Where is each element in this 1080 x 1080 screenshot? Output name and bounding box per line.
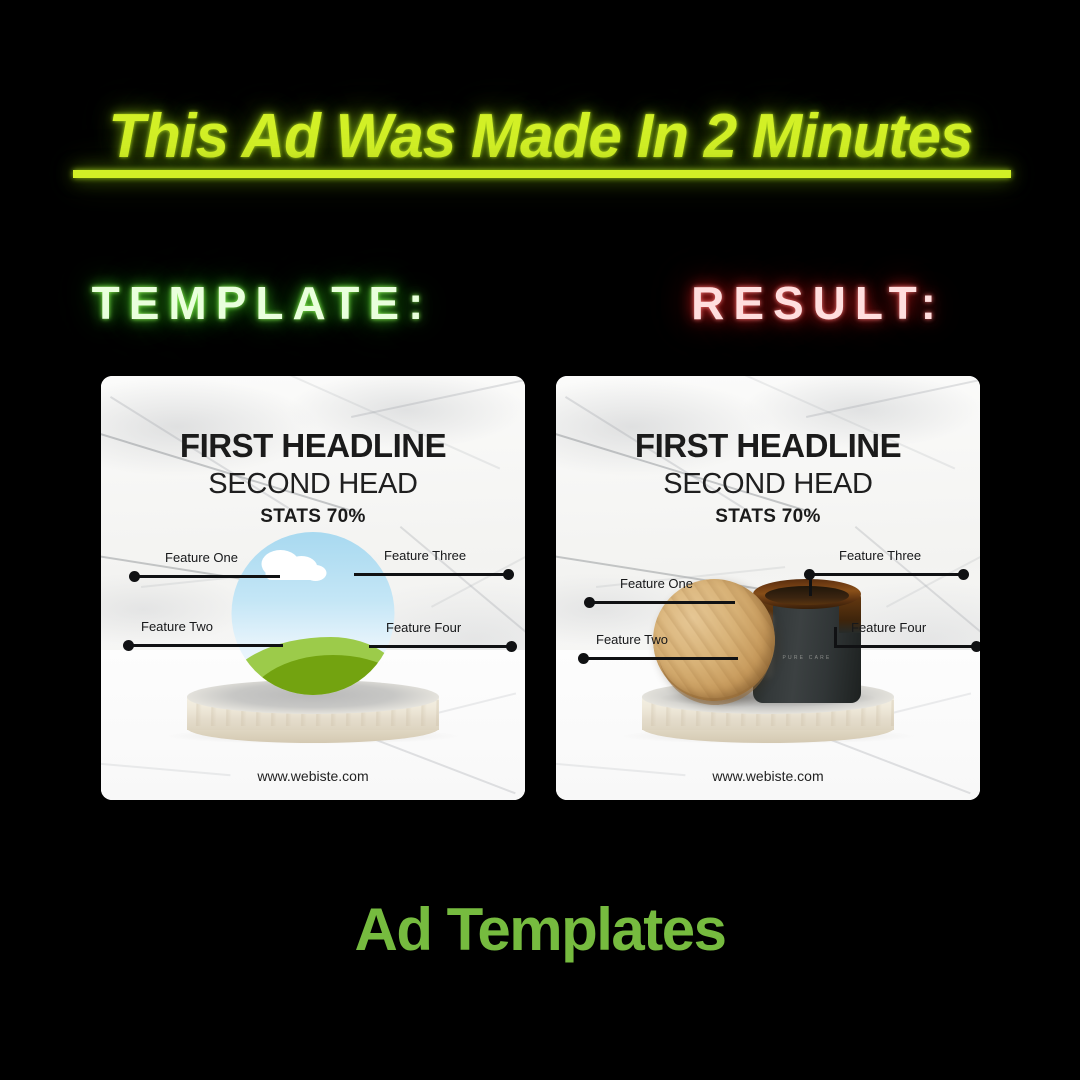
callout-line <box>128 644 283 647</box>
callout-stem <box>834 627 837 648</box>
feature-label: Feature One <box>620 576 693 591</box>
jar-brand-label: PURE CARE <box>767 655 847 661</box>
section-label-template: TEMPLATE: <box>0 276 524 330</box>
feature-label: Feature Three <box>839 548 921 563</box>
callout-dot <box>971 641 980 652</box>
callout-stem <box>809 574 812 596</box>
card-stats-text: STATS 70% <box>556 506 980 528</box>
marble-vein <box>351 376 525 418</box>
callout-line <box>134 575 280 578</box>
section-label-result: RESULT: <box>556 276 1080 330</box>
main-headline: This Ad Was Made In 2 Minutes <box>104 101 976 178</box>
callout-dot <box>503 569 514 580</box>
callout-line <box>589 601 735 604</box>
callout-dot <box>506 641 517 652</box>
callout-line <box>809 573 964 576</box>
template-ad-card[interactable]: FIRST HEADLINE SECOND HEAD STATS 70% Fea… <box>101 376 525 800</box>
card-website-url[interactable]: www.webiste.com <box>556 768 980 784</box>
result-ad-card[interactable]: FIRST HEADLINE SECOND HEAD STATS 70% PUR… <box>556 376 980 800</box>
feature-label: Feature Two <box>596 632 668 647</box>
callout-dot <box>958 569 969 580</box>
callout-line <box>834 645 977 648</box>
card-headline-primary: FIRST HEADLINE <box>101 427 525 465</box>
feature-label: Feature Four <box>386 620 461 635</box>
card-website-url[interactable]: www.webiste.com <box>101 768 525 784</box>
feature-label: Feature One <box>165 550 238 565</box>
callout-line <box>369 645 512 648</box>
feature-label: Feature Two <box>141 619 213 634</box>
card-headline-secondary: SECOND HEAD <box>101 468 525 501</box>
callout-line <box>583 657 738 660</box>
image-placeholder-circle[interactable] <box>232 532 395 695</box>
card-headline-secondary: SECOND HEAD <box>556 468 980 501</box>
callout-line <box>354 573 509 576</box>
card-stats-text: STATS 70% <box>101 506 525 528</box>
main-headline-container: This Ad Was Made In 2 Minutes <box>0 101 1080 178</box>
feature-label: Feature Four <box>851 620 926 635</box>
bottom-title: Ad Templates <box>0 895 1080 964</box>
feature-label: Feature Three <box>384 548 466 563</box>
jar-opening <box>765 586 849 605</box>
card-headline-primary: FIRST HEADLINE <box>556 427 980 465</box>
headline-underline <box>73 170 1011 178</box>
marble-vein <box>806 376 980 418</box>
